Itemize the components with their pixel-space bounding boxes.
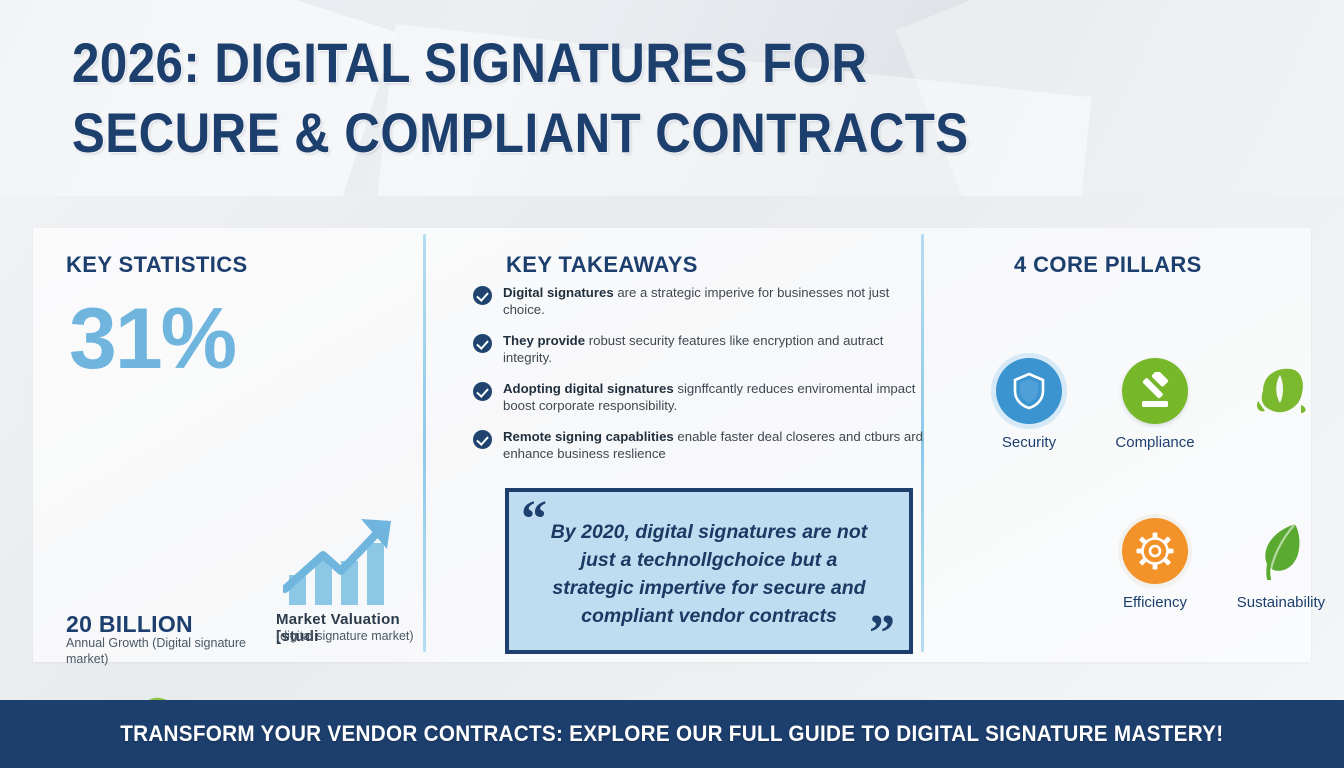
pillar-leaf-blob: [1206, 358, 1344, 434]
shield-icon: [1012, 372, 1046, 410]
takeaway-text: Digital signatures are a strategic imper…: [503, 284, 923, 318]
stat-annual-growth-label: 20 BILLION: [66, 611, 193, 638]
pillar-compliance-circle: [1122, 358, 1188, 424]
core-pillars-heading: 4 CORE PILLARS: [1014, 252, 1202, 278]
quote-close-mark: ”: [869, 608, 895, 660]
content-card: KEY STATISTICS 31% 20 BILLION Annual Gro…: [33, 228, 1311, 662]
pillar-sustainability-label: Sustainability: [1206, 594, 1344, 611]
page-title: 2026: DIGITAL SIGNATURES FOR SECURE & CO…: [72, 28, 1058, 168]
takeaway-lead: Digital signatures: [503, 285, 614, 300]
check-circle-icon: [473, 382, 492, 401]
leaf-icon: [1259, 522, 1303, 580]
key-statistics-column: KEY STATISTICS 31% 20 BILLION Annual Gro…: [33, 228, 423, 662]
check-circle-icon: [473, 430, 492, 449]
takeaway-text: Remote signing capablities enable faster…: [503, 428, 923, 462]
takeaway-lead: They provide: [503, 333, 585, 348]
key-takeaways-column: KEY TAKEAWAYS Digital signatures are a s…: [423, 228, 921, 662]
gavel-icon: [1136, 372, 1174, 410]
takeaway-text: Adopting digital signatures signffcantly…: [503, 380, 923, 414]
takeaway-list: Digital signatures are a strategic imper…: [473, 284, 923, 476]
gear-icon: [1135, 531, 1175, 571]
key-takeaways-heading: KEY TAKEAWAYS: [506, 252, 698, 278]
check-circle-icon: [473, 286, 492, 305]
takeaway-item: Adopting digital signatures signffcantly…: [473, 380, 923, 414]
cta-text: TRANSFORM YOUR VENDOR CONTRACTS: EXPLORE…: [120, 721, 1223, 747]
stat-annual-growth-value: 31%: [69, 296, 235, 382]
takeaway-lead: Remote signing capablities: [503, 429, 674, 444]
pillar-security-circle: [996, 358, 1062, 424]
takeaway-item: They provide robust security features li…: [473, 332, 923, 366]
quote-text: By 2020, digital signatures are not just…: [539, 518, 879, 630]
takeaway-item: Remote signing capablities enable faster…: [473, 428, 923, 462]
takeaway-lead: Adopting digital signatures: [503, 381, 674, 396]
pillar-efficiency-circle: [1122, 518, 1188, 584]
pillar-compliance-label: Compliance: [1080, 434, 1230, 451]
pillar-sustainability: Sustainability: [1206, 518, 1344, 611]
leaf-blob-icon: [1253, 365, 1309, 417]
takeaway-text: They provide robust security features li…: [503, 332, 923, 366]
infographic-canvas: 2026: DIGITAL SIGNATURES FOR SECURE & CO…: [0, 0, 1344, 768]
key-statistics-heading: KEY STATISTICS: [66, 252, 248, 278]
stat-annual-growth-sub: Annual Growth (Digital signature market): [66, 635, 256, 667]
core-pillars-column: 4 CORE PILLARS Security: [921, 228, 1311, 662]
takeaway-item: Digital signatures are a strategic imper…: [473, 284, 923, 318]
stat-market-valuation-sub: (digital signature market): [276, 628, 431, 644]
growth-chart-icon: [283, 513, 408, 608]
cta-banner[interactable]: TRANSFORM YOUR VENDOR CONTRACTS: EXPLORE…: [0, 700, 1344, 768]
check-circle-icon: [473, 334, 492, 353]
quote-callout-box: “ By 2020, digital signatures are not ju…: [505, 488, 913, 654]
leaf-blob-icon-wrap: [1248, 358, 1314, 424]
leaf-icon-wrap: [1248, 518, 1314, 584]
